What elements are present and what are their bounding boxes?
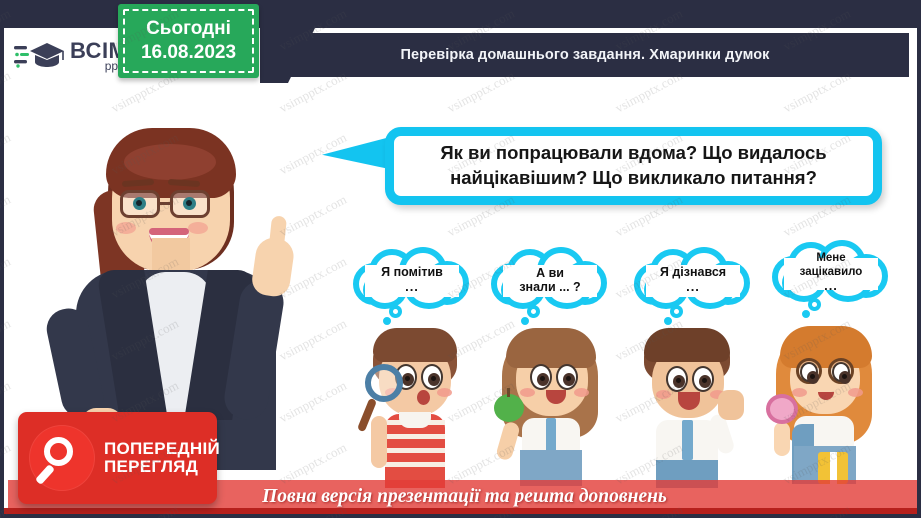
thought-bubble-2: А ви знали ... ?	[491, 249, 609, 311]
waving-hand-icon	[718, 390, 744, 420]
slide-root: Як ви попрацювали вдома? Що видалось най…	[0, 0, 921, 518]
teacher-illustration	[46, 120, 346, 460]
thought-bubble-4: Мене зацікавило ...	[772, 242, 890, 304]
thought-3-line-1: Я дізнався	[660, 265, 726, 279]
graduation-cap-icon	[14, 38, 66, 74]
alarm-clock-icon	[766, 394, 798, 424]
kid-girl-apple	[494, 326, 612, 486]
date-badge: Сьогодні 16.08.2023	[118, 4, 259, 78]
magnifier-icon	[29, 425, 95, 491]
thought-1-line-1: Я помітив	[381, 265, 443, 279]
preview-badge[interactable]: ПОПЕРЕДНІЙ ПЕРЕГЛЯД	[18, 412, 217, 504]
thought-bubble-1: Я помітив ...	[353, 249, 471, 311]
main-bubble-line-1: Як ви попрацювали вдома? Що видалось	[440, 141, 826, 166]
preview-badge-line-2: ПЕРЕГЛЯД	[104, 458, 220, 476]
magnifier-icon	[365, 364, 403, 402]
date-badge-value: 16.08.2023	[141, 41, 236, 65]
kid-boy-waving	[632, 328, 750, 488]
banner-line-1: Повна версія презентації та решта доповн…	[262, 485, 667, 508]
thought-1-line-2: ...	[405, 280, 419, 295]
kid-girl-clock	[766, 324, 884, 484]
thought-2-line-2: знали ... ?	[519, 280, 580, 294]
apple-icon	[494, 394, 524, 422]
thought-3-line-2: ...	[686, 280, 700, 295]
main-bubble-line-2: найцікавішим? Що викликало питання?	[440, 166, 826, 191]
thought-bubble-3: Я дізнався ...	[634, 249, 752, 311]
thought-4-line-1: Мене	[816, 252, 845, 265]
preview-badge-line-1: ПОПЕРЕДНІЙ	[104, 440, 220, 458]
main-speech-bubble: Як ви попрацювали вдома? Що видалось най…	[385, 127, 882, 205]
page-title: Перевірка домашнього завдання. Хмаринки …	[400, 47, 769, 63]
header-title-bar: Перевірка домашнього завдання. Хмаринки …	[261, 33, 909, 77]
kid-boy-magnifier	[359, 328, 477, 488]
thought-4-line-1b: зацікавило	[800, 266, 863, 279]
thought-2-line-1: А ви	[536, 266, 564, 280]
thought-4-line-2: ...	[824, 279, 838, 294]
date-badge-label: Сьогодні	[146, 17, 231, 41]
